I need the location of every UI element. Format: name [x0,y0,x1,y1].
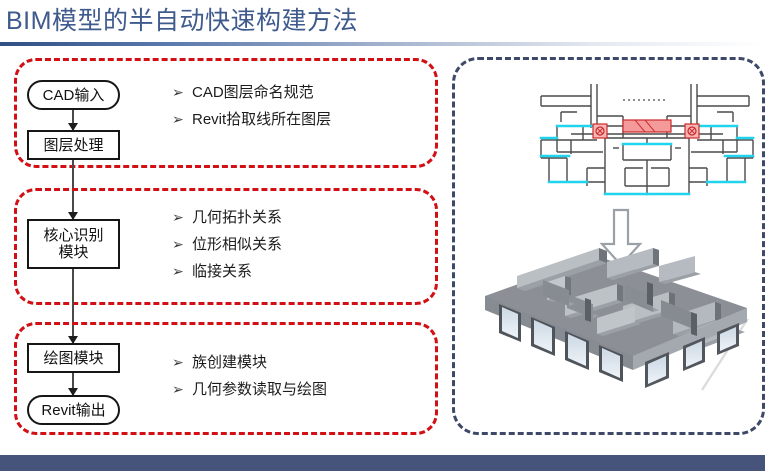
flow-node-label-line1: 核心识别 [43,227,103,244]
flow-node-label: Revit输出 [41,402,105,419]
flow-node-revit-output[interactable]: Revit输出 [27,395,120,425]
connector-cad-to-layer [72,110,74,130]
bullet-text: 几何拓扑关系 [192,208,282,228]
list-item: ➢ Revit拾取线所在图层 [172,110,331,130]
arrow-bullet-icon: ➢ [172,83,192,103]
list-item: ➢ 几何参数读取与绘图 [172,380,327,400]
bullet-list-draw: ➢ 族创建模块 ➢ 几何参数读取与绘图 [172,353,327,407]
footer-bar [0,455,765,471]
flow-node-cad-input[interactable]: CAD输入 [27,80,120,110]
page-title: BIM模型的半自动快速构建方法 [6,6,358,36]
cad-floorplan-image [527,82,765,200]
flow-node-label-line2: 模块 [58,244,88,261]
bullet-text: CAD图层命名规范 [192,83,314,103]
arrow-bullet-icon: ➢ [172,110,192,130]
bullet-text: Revit拾取线所在图层 [192,110,331,130]
flow-node-label: 绘图模块 [43,350,103,367]
list-item: ➢ 几何拓扑关系 [172,208,282,228]
arrow-bullet-icon: ➢ [172,380,192,400]
arrow-bullet-icon: ➢ [172,235,192,255]
connector-draw-to-revit [72,373,74,395]
arrow-bullet-icon: ➢ [172,208,192,228]
list-item: ➢ 族创建模块 [172,353,327,373]
bullet-text: 临接关系 [192,262,252,282]
bullet-text: 族创建模块 [192,353,267,373]
flow-node-layer-process[interactable]: 图层处理 [27,130,120,160]
list-item: ➢ 位形相似关系 [172,235,282,255]
flow-node-label: CAD输入 [43,87,105,104]
title-underline-rule [0,42,765,46]
list-item: ➢ 临接关系 [172,262,282,282]
bullet-text: 位形相似关系 [192,235,282,255]
bim-3d-model-image [452,238,765,435]
list-item: ➢ CAD图层命名规范 [172,83,331,103]
arrow-bullet-icon: ➢ [172,353,192,373]
illustration-panel [452,57,765,435]
bullet-list-input: ➢ CAD图层命名规范 ➢ Revit拾取线所在图层 [172,83,331,137]
flow-node-core-module[interactable]: 核心识别 模块 [27,219,120,269]
arrow-bullet-icon: ➢ [172,262,192,282]
bullet-list-core: ➢ 几何拓扑关系 ➢ 位形相似关系 ➢ 临接关系 [172,208,282,289]
bullet-text: 几何参数读取与绘图 [192,380,327,400]
flow-node-label: 核心识别 模块 [43,227,103,261]
flow-node-draw-module[interactable]: 绘图模块 [27,343,120,373]
flow-node-label: 图层处理 [43,137,103,154]
